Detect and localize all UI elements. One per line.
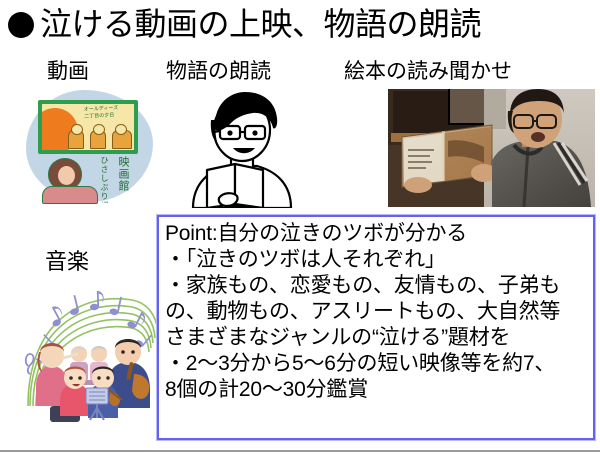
page-title: 泣ける動画の上映、物語の朗読 bbox=[8, 2, 598, 46]
music-performance-illustration bbox=[22, 288, 162, 424]
cinema-vertical-text-sub: ひさしぶり! bbox=[100, 156, 109, 204]
caption-video: 動画 bbox=[47, 60, 89, 84]
caption-music: 音楽 bbox=[45, 250, 89, 274]
point-line: Point:自分の泣きのツボが分かる bbox=[165, 221, 591, 247]
bottom-divider bbox=[0, 450, 600, 452]
point-line: さまざまなジャンルの“泣ける”題材を bbox=[165, 325, 591, 351]
photo-svg bbox=[388, 89, 595, 207]
point-line: ・「泣きのツボは人それぞれ」 bbox=[165, 247, 591, 273]
cinema-screen-title-text: オールディーズ 二丁目の夕日 bbox=[84, 105, 119, 121]
slide-canvas: 泣ける動画の上映、物語の朗読 動画 物語の朗読 絵本の読み聞かせ 音楽 オールデ… bbox=[0, 0, 600, 454]
page-title-text: 泣ける動画の上映、物語の朗読 bbox=[40, 6, 481, 42]
cinema-illustration: オールディーズ 二丁目の夕日 映画館 ひさしぶり! bbox=[22, 86, 157, 206]
cinema-vertical-text-main: 映画館 bbox=[118, 156, 127, 192]
cinema-screen-figure bbox=[90, 130, 106, 149]
music-svg bbox=[22, 288, 162, 424]
photo-man-reading-picture-book bbox=[388, 89, 595, 207]
point-text-lines: Point:自分の泣きのツボが分かる ・「泣きのツボは人それぞれ」 ・家族もの、… bbox=[165, 221, 591, 403]
cinema-screen-frame: オールディーズ 二丁目の夕日 bbox=[38, 100, 138, 154]
point-line: ・家族もの、恋愛もの、友情もの、子弟も bbox=[165, 273, 591, 299]
caption-story-reading: 物語の朗読 bbox=[166, 60, 271, 84]
point-text-box: Point:自分の泣きのツボが分かる ・「泣きのツボは人それぞれ」 ・家族もの、… bbox=[157, 215, 595, 440]
cinema-screen: オールディーズ 二丁目の夕日 bbox=[42, 104, 134, 150]
point-line: ・2～3分から5～6分の短い映像等を約7、 bbox=[165, 351, 591, 377]
filled-circle-bullet-icon bbox=[8, 12, 34, 38]
point-line: の、動物もの、アスリートもの、大自然等 bbox=[165, 299, 591, 325]
reader-svg bbox=[175, 86, 305, 208]
point-line: 8個の計20～30分鑑賞 bbox=[165, 377, 591, 403]
cinema-screen-figure bbox=[68, 130, 84, 149]
cinema-viewer-body bbox=[42, 186, 98, 204]
caption-picture-book: 絵本の読み聞かせ bbox=[344, 60, 512, 84]
cinema-viewer-face bbox=[58, 166, 75, 185]
man-reading-book-lineart bbox=[175, 86, 305, 208]
cinema-screen-title-line2: 二丁目の夕日 bbox=[84, 112, 119, 121]
cinema-screen-figure bbox=[112, 130, 132, 149]
